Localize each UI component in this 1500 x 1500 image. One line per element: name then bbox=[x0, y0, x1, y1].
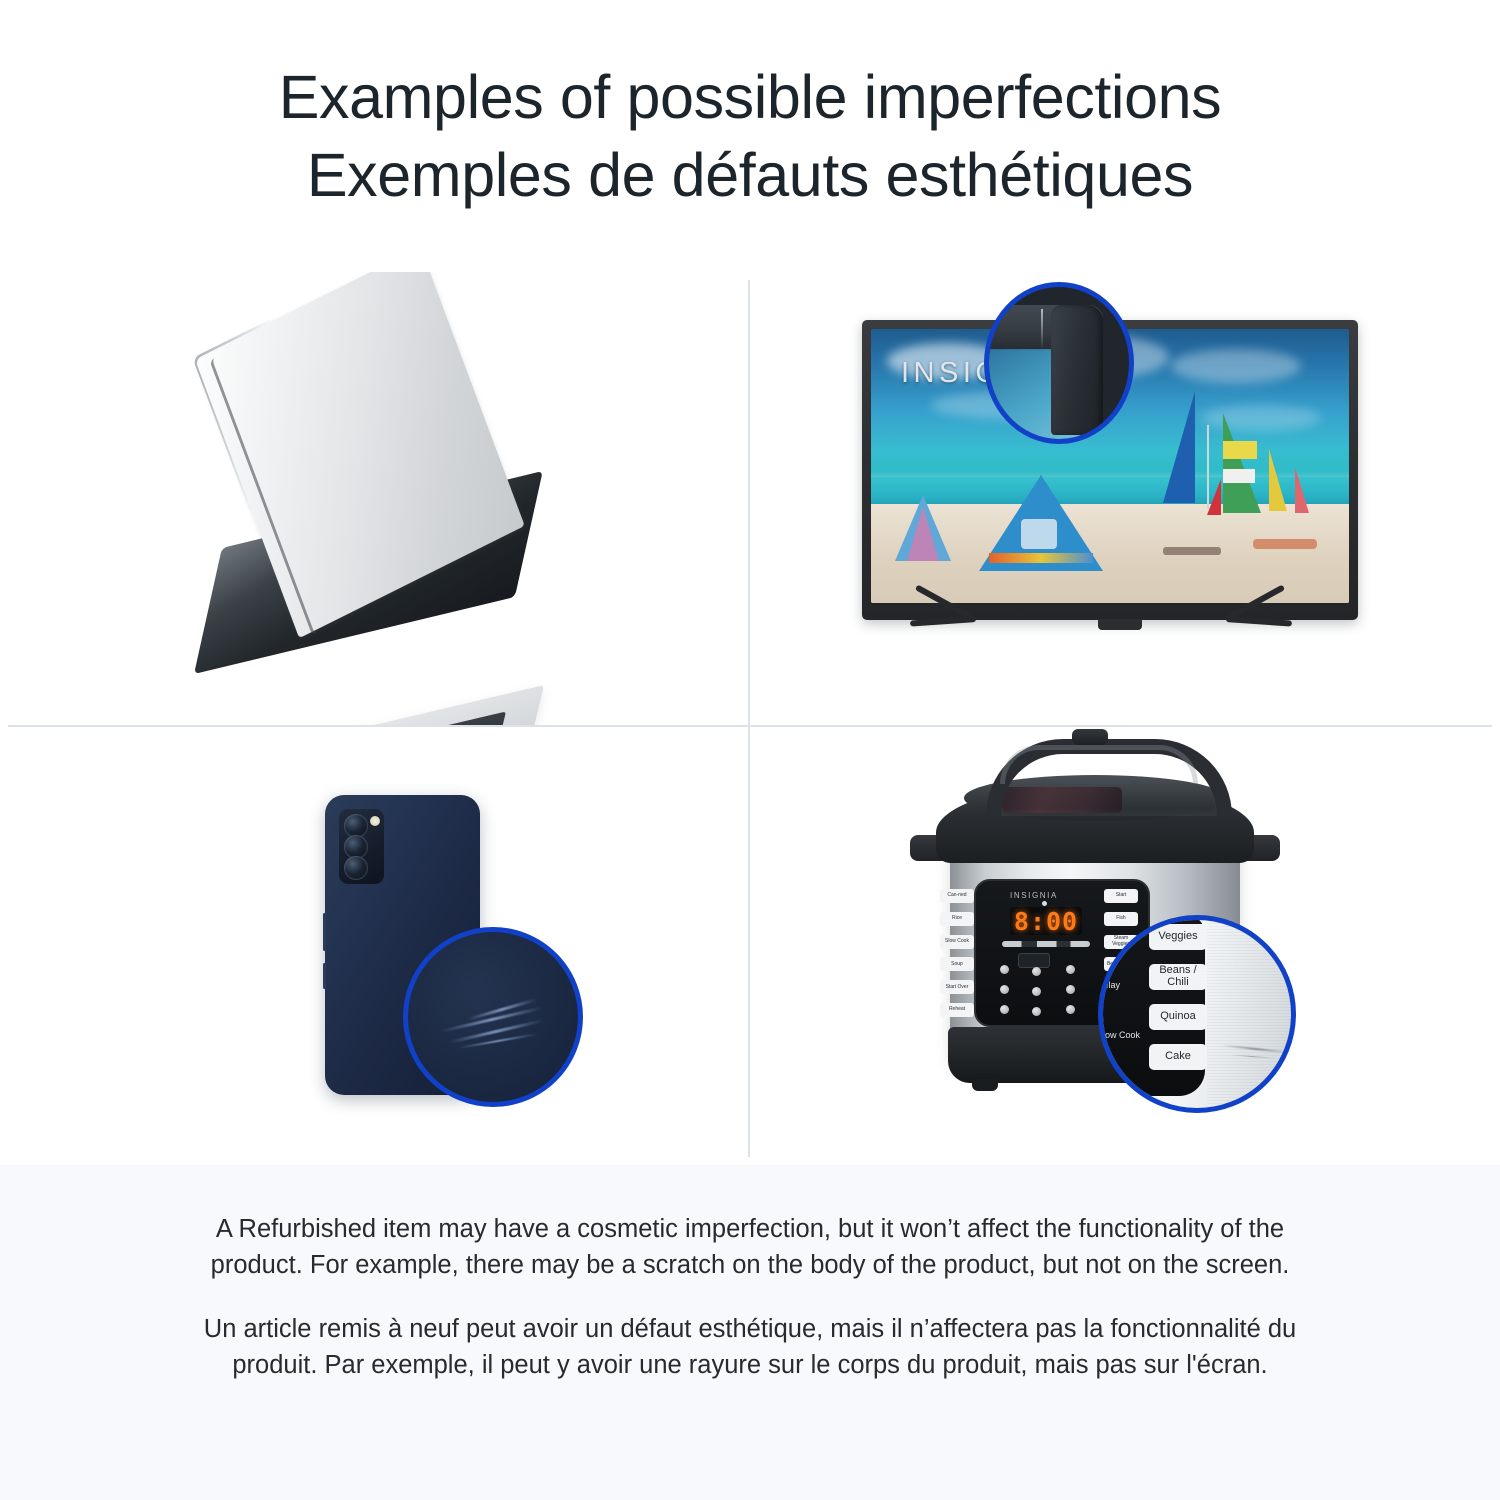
control-key[interactable] bbox=[1000, 1005, 1009, 1014]
cooker-button[interactable]: Soup bbox=[940, 957, 974, 971]
tent-window bbox=[1021, 519, 1057, 549]
smartphone-power-button bbox=[323, 963, 326, 989]
refurbished-imperfections-infographic: Examples of possible imperfections Exemp… bbox=[0, 0, 1500, 1500]
smartphone-magnifier-circle bbox=[403, 927, 583, 1107]
examples-grid: INSIGNIA bbox=[0, 272, 1500, 1165]
camera-lens-icon bbox=[344, 856, 368, 880]
control-button-cluster[interactable] bbox=[998, 965, 1094, 1017]
television-illustration: INSIGNIA bbox=[750, 272, 1500, 725]
television-ir-sensor bbox=[1098, 619, 1142, 630]
sail-pink bbox=[1295, 467, 1309, 513]
smartphone-volume-button bbox=[323, 913, 326, 951]
television-magnified-corner-bezel bbox=[1051, 305, 1103, 435]
control-key[interactable] bbox=[1032, 1007, 1041, 1016]
page-footer: A Refurbished item may have a cosmetic i… bbox=[0, 1165, 1500, 1500]
control-key[interactable] bbox=[1066, 1005, 1075, 1014]
page-header: Examples of possible imperfections Exemp… bbox=[0, 0, 1500, 272]
sail-yellow-stripe bbox=[1223, 441, 1257, 459]
magnified-cooker-button: Beans / Chili bbox=[1149, 964, 1207, 990]
cloud-shape bbox=[1171, 349, 1301, 383]
laptop-panel bbox=[0, 272, 748, 725]
television-magnifier-circle bbox=[984, 282, 1134, 444]
cooker-button[interactable]: Can-ned bbox=[940, 889, 974, 903]
control-key[interactable] bbox=[1066, 985, 1075, 994]
cooker-button[interactable]: Start bbox=[1104, 889, 1138, 903]
laptop-illustration bbox=[0, 272, 748, 725]
smartphone-panel bbox=[0, 727, 748, 1165]
beach-kayak bbox=[1253, 539, 1317, 549]
sail-green bbox=[1223, 413, 1261, 513]
cooker-button[interactable]: Reheat bbox=[940, 1003, 974, 1017]
pressure-cooker-brand-logo: INSIGNIA bbox=[1010, 891, 1058, 900]
control-key[interactable] bbox=[1032, 967, 1041, 976]
smartphone-camera-module bbox=[339, 809, 384, 884]
tent-stripe bbox=[989, 553, 1093, 563]
status-indicator-light bbox=[1042, 901, 1047, 906]
sail-white-stripe bbox=[1223, 469, 1255, 483]
sail-red bbox=[1207, 479, 1221, 515]
magnified-cooker-button: Cake bbox=[1149, 1044, 1207, 1070]
sail-yellow bbox=[1269, 449, 1287, 511]
tent-purple bbox=[907, 507, 939, 561]
sail-blue bbox=[1163, 391, 1195, 503]
cooker-button[interactable]: Start Over bbox=[940, 980, 974, 994]
television-panel: INSIGNIA bbox=[750, 272, 1500, 725]
beach-driftwood bbox=[1163, 547, 1221, 555]
control-key[interactable] bbox=[1000, 985, 1009, 994]
camera-flash-icon bbox=[370, 816, 380, 826]
brushed-steel-texture bbox=[1207, 915, 1296, 1113]
magnified-cooker-button: Veggies bbox=[1149, 924, 1207, 950]
cloud-shape bbox=[1201, 405, 1321, 431]
footer-paragraph-french: Un article remis à neuf peut avoir un dé… bbox=[185, 1311, 1315, 1383]
page-title-french: Exemples de défauts esthétiques bbox=[307, 136, 1193, 214]
control-key[interactable] bbox=[1066, 965, 1075, 974]
progress-slider[interactable] bbox=[1002, 941, 1090, 947]
pressure-cooker-handle-highlight bbox=[1000, 745, 1198, 784]
footer-paragraph-english: A Refurbished item may have a cosmetic i… bbox=[185, 1211, 1315, 1283]
cooker-button[interactable]: Slow Cook bbox=[940, 935, 974, 949]
page-title-english: Examples of possible imperfections bbox=[279, 58, 1222, 136]
pressure-cooker-magnifier-circle: Delay Slow Cook Veggies Beans / Chili Qu… bbox=[1098, 915, 1296, 1113]
pressure-cooker-left-button-column[interactable]: Can-ned Rice Slow Cook Soup Start Over R… bbox=[940, 889, 974, 1017]
magnified-cooker-button: Quinoa bbox=[1149, 1004, 1207, 1030]
cooker-button[interactable]: Rice bbox=[940, 912, 974, 926]
pressure-release-valve-icon bbox=[1072, 729, 1108, 745]
magnified-label: Slow Cook bbox=[1098, 1030, 1140, 1040]
pressure-cooker-display: 8:00 bbox=[1010, 907, 1082, 935]
pressure-cooker-illustration: INSIGNIA 8:00 bbox=[750, 727, 1500, 1165]
television-scuff-mark bbox=[1041, 309, 1043, 349]
pressure-cooker-panel: INSIGNIA 8:00 bbox=[750, 727, 1500, 1165]
pressure-cooker-foot bbox=[972, 1079, 998, 1091]
control-key[interactable] bbox=[1032, 987, 1041, 996]
control-key[interactable] bbox=[1000, 965, 1009, 974]
